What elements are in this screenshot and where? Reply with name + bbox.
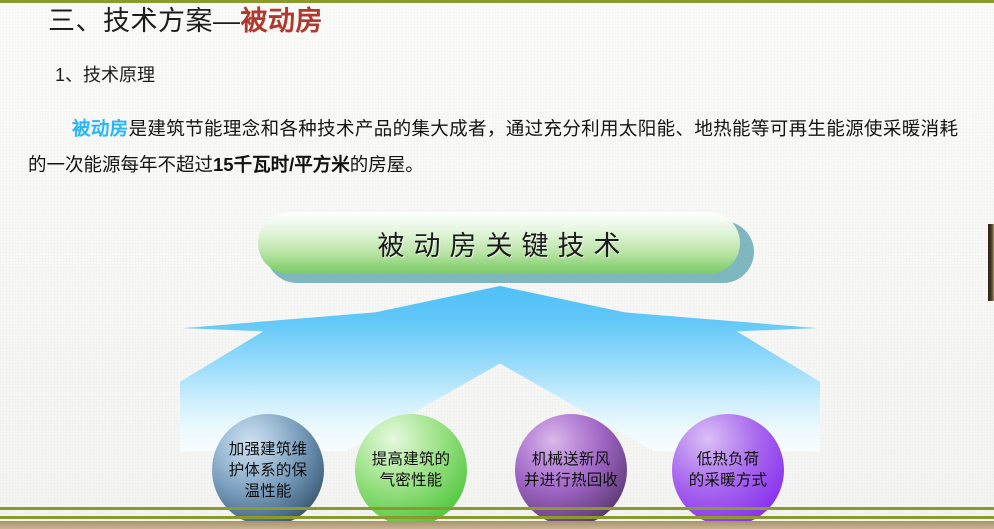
- key-technology-banner: 被动房关键技术: [258, 212, 754, 278]
- paragraph-text-part-2: 的房屋。: [350, 154, 424, 175]
- bottom-accent-band: [0, 521, 994, 529]
- page-title-main: 三、技术方案—: [48, 6, 241, 36]
- bottom-divider-rule-upper: [0, 507, 994, 510]
- slide-canvas: 三、技术方案—被动房 1、技术原理 被动房是建筑节能理念和各种技术产品的集大成者…: [0, 0, 994, 529]
- bottom-divider-rule-lower: [0, 516, 994, 519]
- paragraph-text-part-1: 是建筑节能理念和各种技术产品的集大成者，通过充分利用太阳能、地热能等可再生能源使…: [28, 118, 958, 175]
- paragraph-highlight-term: 被动房: [72, 118, 129, 139]
- page-title: 三、技术方案—被动房: [48, 2, 323, 40]
- paragraph-bold-value: 15千瓦时/平方米: [213, 154, 350, 175]
- section-subtitle: 1、技术原理: [55, 62, 155, 88]
- body-paragraph: 被动房是建筑节能理念和各种技术产品的集大成者，通过充分利用太阳能、地热能等可再生…: [28, 111, 958, 183]
- banner-label: 被动房关键技术: [258, 212, 740, 274]
- right-edge-marker: [988, 224, 994, 301]
- page-title-accent: 被动房: [241, 6, 324, 36]
